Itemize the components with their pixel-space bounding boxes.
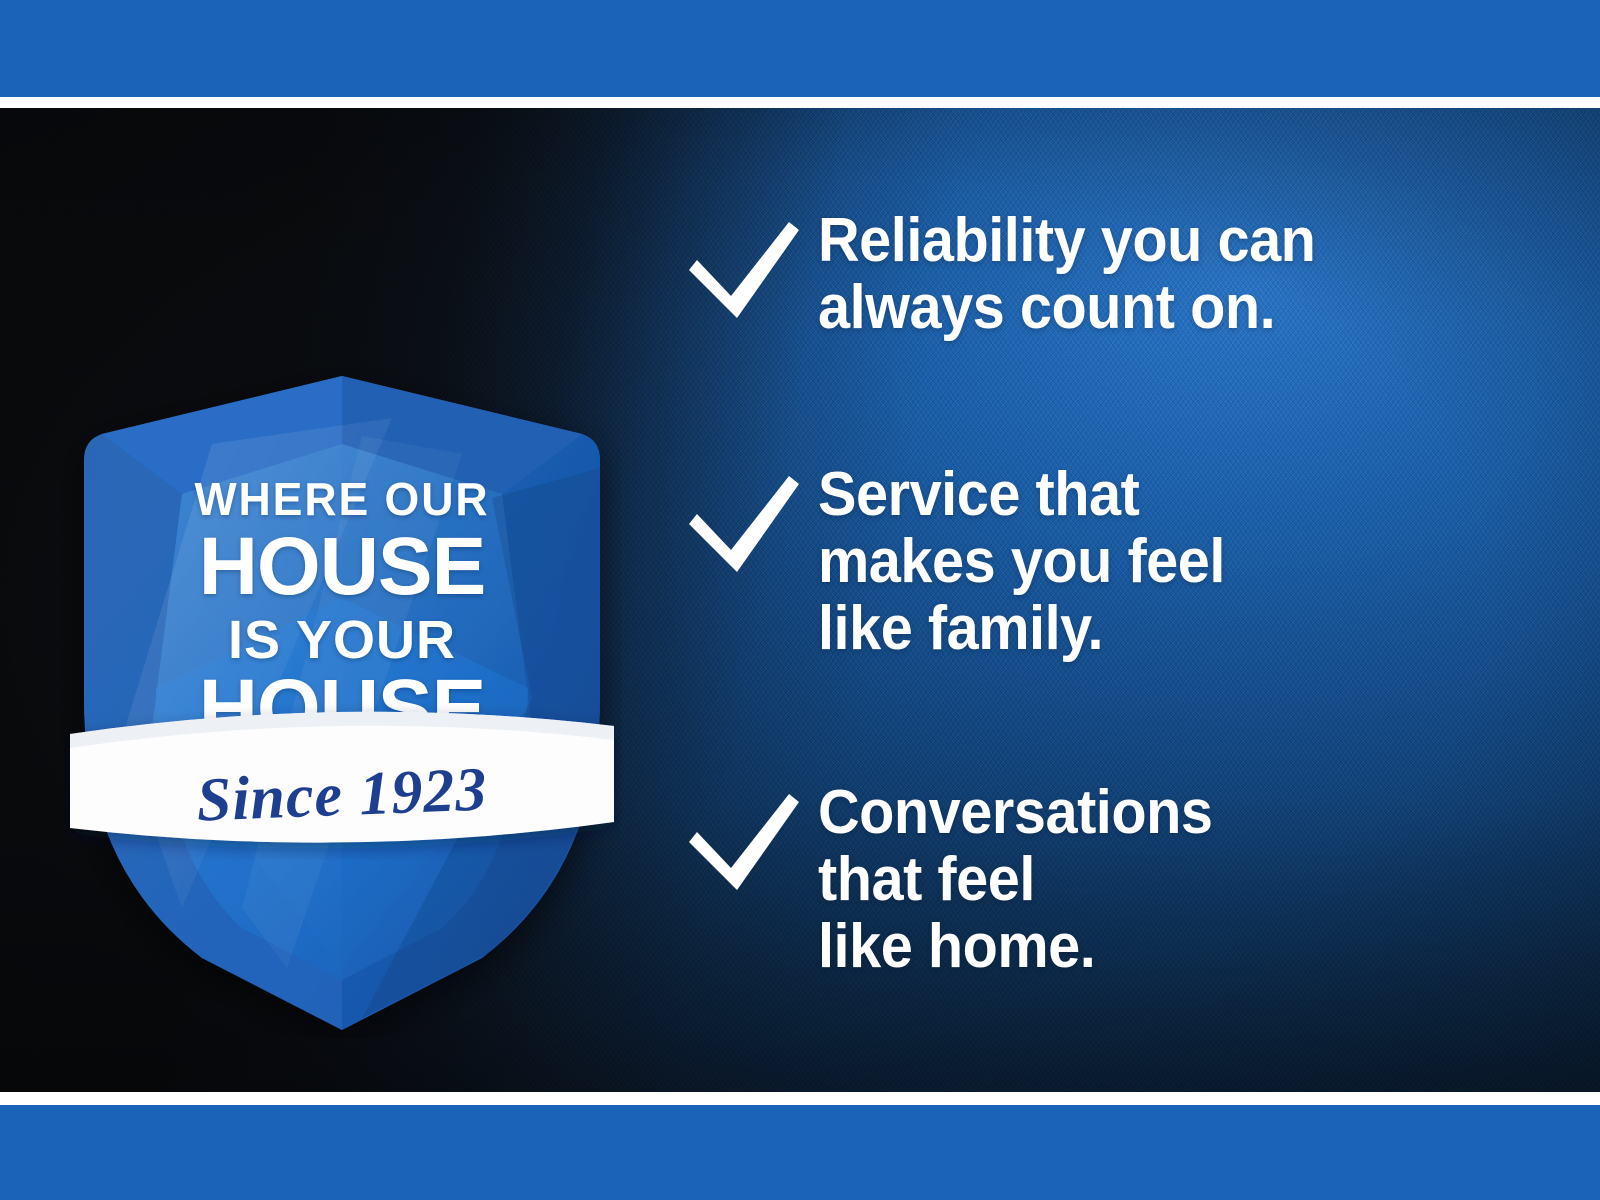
feature-line: Service that: [818, 462, 1516, 529]
shield-badge: WHERE OUR HOUSE IS YOUR HOUSE Since 1: [62, 268, 622, 1038]
feature-line: like family.: [818, 596, 1516, 663]
feature-line: always count on.: [818, 275, 1516, 342]
feature-list: Reliability you can always count on. Ser…: [668, 108, 1568, 1092]
feature-line: like home.: [818, 914, 1516, 981]
check-icon: [668, 462, 818, 580]
check-icon: [668, 208, 818, 326]
check-icon: [668, 780, 818, 898]
feature-line: Conversations: [818, 780, 1516, 847]
badge-line-1: WHERE OUR: [70, 476, 613, 522]
main-stage: WHERE OUR HOUSE IS YOUR HOUSE Since 1: [0, 108, 1600, 1092]
feature-text: Conversations that feel like home.: [818, 780, 1516, 981]
top-brand-bar: [0, 0, 1600, 97]
badge-line-2: HOUSE: [62, 526, 622, 608]
feature-item-reliability: Reliability you can always count on.: [668, 208, 1568, 342]
bottom-brand-bar: [0, 1105, 1600, 1200]
badge-line-3: IS YOUR: [62, 613, 622, 667]
feature-line: Reliability you can: [818, 208, 1516, 275]
feature-text: Service that makes you feel like family.: [818, 462, 1516, 663]
feature-item-conversations: Conversations that feel like home.: [668, 780, 1568, 981]
feature-text: Reliability you can always count on.: [818, 208, 1516, 342]
feature-item-service: Service that makes you feel like family.: [668, 462, 1568, 663]
promo-graphic: WHERE OUR HOUSE IS YOUR HOUSE Since 1: [0, 0, 1600, 1200]
feature-line: makes you feel: [818, 529, 1516, 596]
feature-line: that feel: [818, 847, 1516, 914]
since-ribbon: Since 1923: [64, 700, 620, 860]
